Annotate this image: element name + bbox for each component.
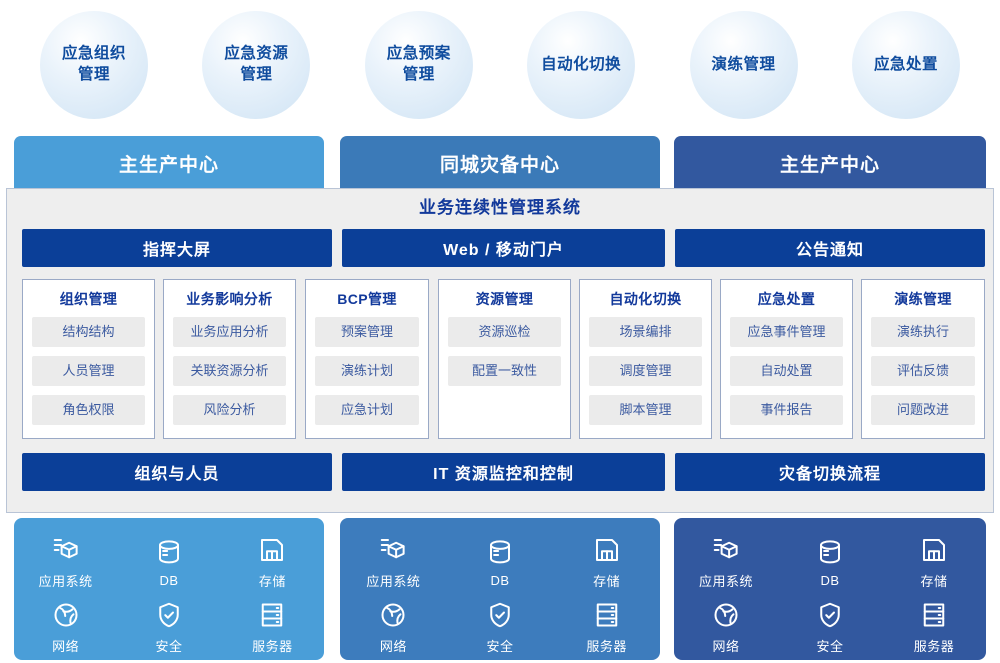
security-shield-icon — [815, 600, 845, 630]
data-center-tab-row: 主生产中心 同城灾备中心 主生产中心 — [0, 136, 1000, 190]
card-automatic-switchover: 自动化切换 场景编排 调度管理 脚本管理 — [579, 279, 712, 439]
infra-panel-primary-left: 应用系统 DB 存储 — [14, 518, 324, 660]
bar-it-resource-monitoring-control[interactable]: IT 资源监控和控制 — [342, 453, 665, 491]
infra-item-label: DB — [159, 573, 178, 588]
infra-item-server[interactable]: 服务器 — [221, 600, 324, 655]
network-globe-icon — [711, 600, 741, 630]
card-title: 资源管理 — [439, 289, 570, 309]
bar-command-bigscreen[interactable]: 指挥大屏 — [22, 229, 332, 267]
bubble-label-line2: 管理 — [51, 65, 137, 86]
infra-item-network[interactable]: 网络 — [674, 600, 778, 655]
infra-item-server[interactable]: 服务器 — [553, 600, 660, 655]
card-drill-management: 演练管理 演练执行 评估反馈 问题改进 — [861, 279, 985, 439]
portal-bar-row: 指挥大屏 Web / 移动门户 公告通知 — [7, 229, 993, 267]
foundation-bar-row: 组织与人员 IT 资源监控和控制 灾备切换流程 — [7, 453, 993, 491]
card-title: 应急处置 — [721, 289, 852, 309]
card-item[interactable]: 自动处置 — [730, 356, 843, 386]
card-item[interactable]: 应急计划 — [315, 395, 419, 425]
infra-item-app-system[interactable]: 应用系统 — [14, 535, 117, 590]
bar-web-mobile-portal[interactable]: Web / 移动门户 — [342, 229, 665, 267]
card-business-impact-analysis: 业务影响分析 业务应用分析 关联资源分析 风险分析 — [163, 279, 296, 439]
bar-announcement-notice[interactable]: 公告通知 — [675, 229, 985, 267]
bubble-emergency-plan-mgmt[interactable]: 应急预案 管理 — [365, 11, 473, 119]
storage-icon — [592, 535, 622, 565]
module-card-row: 组织管理 结构结构 人员管理 角色权限 业务影响分析 业务应用分析 关联资源分析… — [7, 279, 993, 441]
card-title: 自动化切换 — [580, 289, 711, 309]
infra-item-storage[interactable]: 存储 — [221, 535, 324, 590]
infra-item-storage[interactable]: 存储 — [882, 535, 986, 590]
card-item[interactable]: 调度管理 — [589, 356, 702, 386]
bubble-emergency-response[interactable]: 应急处置 — [852, 11, 960, 119]
infra-item-label: 存储 — [259, 571, 286, 590]
bcm-system-panel: 业务连续性管理系统 指挥大屏 Web / 移动门户 公告通知 组织管理 结构结构… — [6, 188, 994, 513]
bubble-label-line1: 应急组织 — [51, 44, 137, 65]
bubble-label-line2: 管理 — [376, 65, 462, 86]
card-title: 业务影响分析 — [164, 289, 295, 309]
tab-primary-production-center-right[interactable]: 主生产中心 — [674, 136, 986, 190]
infra-item-security[interactable]: 安全 — [117, 600, 220, 655]
infra-item-label: 网络 — [380, 636, 407, 655]
infra-panel-metro-dr: 应用系统 DB 存储 — [340, 518, 660, 660]
card-resource-management: 资源管理 资源巡检 配置一致性 — [438, 279, 571, 439]
infra-item-network[interactable]: 网络 — [14, 600, 117, 655]
card-item[interactable]: 评估反馈 — [871, 356, 975, 386]
card-item[interactable]: 应急事件管理 — [730, 317, 843, 347]
infra-item-label: 服务器 — [252, 636, 293, 655]
infra-item-label: 安全 — [486, 636, 513, 655]
infra-item-security[interactable]: 安全 — [778, 600, 882, 655]
infra-item-db[interactable]: DB — [778, 537, 882, 588]
infra-item-label: 服务器 — [914, 636, 955, 655]
infra-item-label: 安全 — [155, 636, 182, 655]
infra-item-network[interactable]: 网络 — [340, 600, 447, 655]
infra-panel-primary-right: 应用系统 DB 存储 — [674, 518, 986, 660]
bubble-label-line1: 应急资源 — [213, 44, 299, 65]
app-system-icon — [51, 535, 81, 565]
infra-item-label: 存储 — [920, 571, 947, 590]
infra-item-label: 应用系统 — [366, 571, 420, 590]
card-item[interactable]: 资源巡检 — [448, 317, 561, 347]
bubble-label-line1: 应急处置 — [863, 55, 949, 76]
infra-item-label: 安全 — [816, 636, 843, 655]
network-globe-icon — [378, 600, 408, 630]
card-title: 演练管理 — [862, 289, 984, 309]
tab-primary-production-center-left[interactable]: 主生产中心 — [14, 136, 324, 190]
infra-item-app-system[interactable]: 应用系统 — [674, 535, 778, 590]
card-item[interactable]: 场景编排 — [589, 317, 702, 347]
card-title: BCP管理 — [306, 289, 428, 309]
infra-item-label: 应用系统 — [699, 571, 753, 590]
bar-dr-switchover-process[interactable]: 灾备切换流程 — [675, 453, 985, 491]
infra-item-label: 应用系统 — [39, 571, 93, 590]
card-emergency-response: 应急处置 应急事件管理 自动处置 事件报告 — [720, 279, 853, 439]
server-rack-icon — [919, 600, 949, 630]
card-item[interactable]: 问题改进 — [871, 395, 975, 425]
infra-item-label: 网络 — [712, 636, 739, 655]
card-item[interactable]: 人员管理 — [32, 356, 145, 386]
server-rack-icon — [592, 600, 622, 630]
database-icon — [485, 537, 515, 567]
storage-icon — [257, 535, 287, 565]
infra-item-label: 服务器 — [586, 636, 627, 655]
infra-item-label: DB — [490, 573, 509, 588]
app-system-icon — [378, 535, 408, 565]
card-item[interactable]: 预案管理 — [315, 317, 419, 347]
bubble-label-line1: 演练管理 — [701, 55, 787, 76]
card-item[interactable]: 结构结构 — [32, 317, 145, 347]
card-item[interactable]: 脚本管理 — [589, 395, 702, 425]
infra-item-app-system[interactable]: 应用系统 — [340, 535, 447, 590]
bubble-drill-management[interactable]: 演练管理 — [690, 11, 798, 119]
card-item[interactable]: 风险分析 — [173, 395, 286, 425]
infra-item-security[interactable]: 安全 — [447, 600, 554, 655]
infra-item-db[interactable]: DB — [447, 537, 554, 588]
card-item[interactable]: 演练执行 — [871, 317, 975, 347]
bubble-emergency-org-mgmt[interactable]: 应急组织 管理 — [40, 11, 148, 119]
infra-item-label: DB — [820, 573, 839, 588]
storage-icon — [919, 535, 949, 565]
card-item[interactable]: 关联资源分析 — [173, 356, 286, 386]
card-item[interactable]: 业务应用分析 — [173, 317, 286, 347]
infra-item-server[interactable]: 服务器 — [882, 600, 986, 655]
bubble-emergency-resource-mgmt[interactable]: 应急资源 管理 — [202, 11, 310, 119]
card-item[interactable]: 事件报告 — [730, 395, 843, 425]
network-globe-icon — [51, 600, 81, 630]
infra-item-db[interactable]: DB — [117, 537, 220, 588]
infrastructure-row: 应用系统 DB 存储 — [0, 518, 1000, 663]
bubble-label-line1: 应急预案 — [376, 44, 462, 65]
security-shield-icon — [485, 600, 515, 630]
tab-metro-disaster-recovery-center[interactable]: 同城灾备中心 — [340, 136, 660, 190]
capability-bubble-row: 应急组织 管理 应急资源 管理 应急预案 管理 自动化切换 演练管理 应急处置 — [0, 0, 1000, 130]
card-bcp-management: BCP管理 预案管理 演练计划 应急计划 — [305, 279, 429, 439]
server-rack-icon — [257, 600, 287, 630]
database-icon — [815, 537, 845, 567]
bubble-label-line1: 自动化切换 — [538, 55, 624, 76]
app-system-icon — [711, 535, 741, 565]
infra-item-storage[interactable]: 存储 — [553, 535, 660, 590]
card-title: 组织管理 — [23, 289, 154, 309]
database-icon — [154, 537, 184, 567]
panel-title: 业务连续性管理系统 — [7, 189, 993, 227]
infra-item-label: 网络 — [52, 636, 79, 655]
bar-organization-and-personnel[interactable]: 组织与人员 — [22, 453, 332, 491]
card-item[interactable]: 演练计划 — [315, 356, 419, 386]
card-organization-management: 组织管理 结构结构 人员管理 角色权限 — [22, 279, 155, 439]
card-item[interactable]: 配置一致性 — [448, 356, 561, 386]
infra-item-label: 存储 — [593, 571, 620, 590]
security-shield-icon — [154, 600, 184, 630]
bubble-label-line2: 管理 — [213, 65, 299, 86]
bubble-automatic-switchover[interactable]: 自动化切换 — [527, 11, 635, 119]
card-item[interactable]: 角色权限 — [32, 395, 145, 425]
